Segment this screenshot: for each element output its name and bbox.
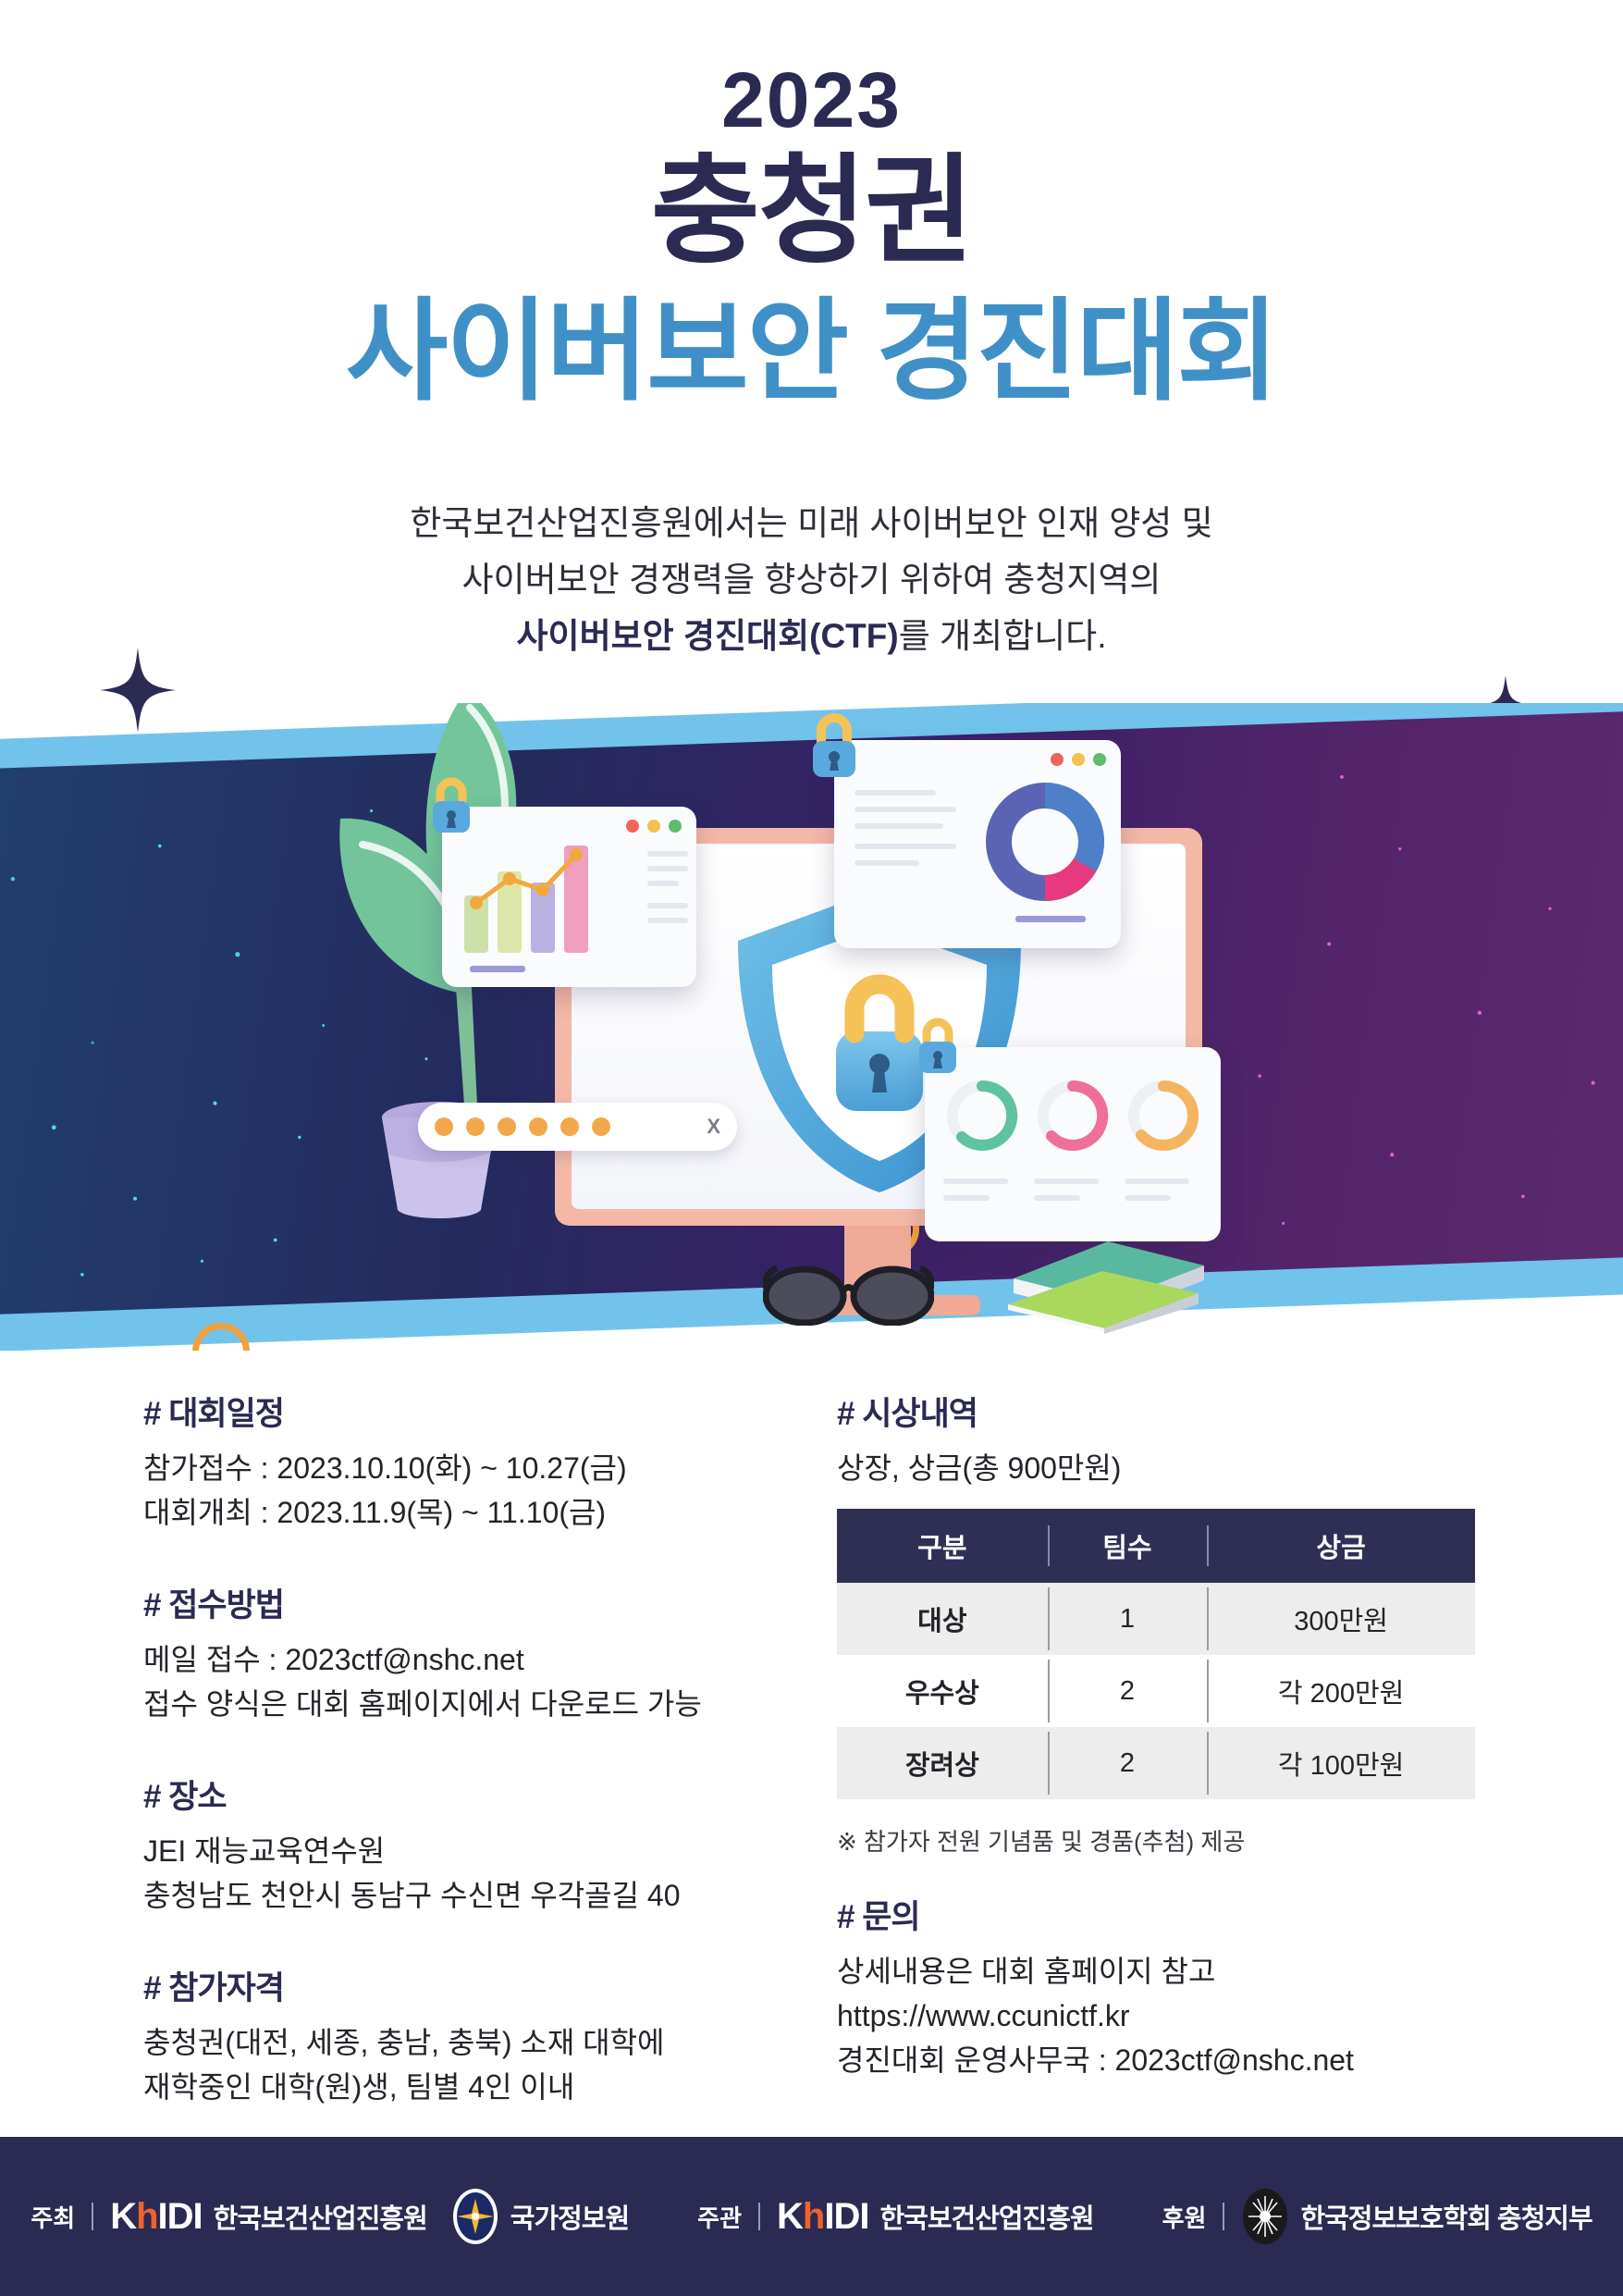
password-dot bbox=[529, 1117, 547, 1136]
row-category: 장려상 bbox=[837, 1727, 1048, 1799]
row-prize: 각 100만원 bbox=[1207, 1727, 1475, 1799]
eyeglasses-icon bbox=[763, 1253, 934, 1326]
eligibility-line-1: 충청권(대전, 세종, 충남, 충북) 소재 대학에 bbox=[143, 2020, 791, 2065]
row-teams: 2 bbox=[1048, 1727, 1208, 1799]
eligibility-line-2: 재학중인 대학(원)생, 팀별 4인 이내 bbox=[143, 2065, 791, 2109]
row-teams: 2 bbox=[1048, 1655, 1208, 1727]
password-dot bbox=[466, 1117, 485, 1136]
padlock-icon bbox=[806, 712, 862, 779]
place-line-2: 충청남도 천안시 동남구 수신면 우각골길 40 bbox=[143, 1873, 791, 1918]
stacked-books-icon bbox=[999, 1232, 1211, 1334]
kiisc-emblem-icon bbox=[1241, 2188, 1289, 2245]
footer-divider bbox=[1223, 2203, 1224, 2230]
table-row: 대상 1 300만원 bbox=[837, 1583, 1475, 1655]
security-illustration: X bbox=[407, 703, 1239, 1351]
row-prize: 각 200만원 bbox=[1207, 1655, 1475, 1727]
password-dot bbox=[592, 1117, 610, 1136]
footer-group-host: 주최 KhIDI 한국보건산업진흥원 국가정보원 bbox=[31, 2188, 629, 2245]
section-place: # 장소 JEI 재능교육연수원 충청남도 천안시 동남구 수신면 우각골길 4… bbox=[143, 1771, 791, 1918]
section-awards: # 시상내역 상장, 상금(총 900만원) 구분 팀수 상금 대상 1 300… bbox=[837, 1388, 1503, 1858]
info-column-left: # 대회일정 참가접수 : 2023.10.10(화) ~ 10.27(금) 대… bbox=[143, 1388, 791, 2117]
padlock-icon bbox=[914, 1018, 962, 1075]
intro-highlight: 사이버보안 경진대회(CTF) bbox=[516, 617, 898, 655]
awards-note: ※ 참가자 전원 기념품 및 경품(추첨) 제공 bbox=[837, 1823, 1503, 1858]
section-heading-eligibility: # 참가자격 bbox=[143, 1962, 791, 2009]
footer-org-name: 한국보건산업진흥원 bbox=[879, 2197, 1093, 2236]
table-row: 장려상 2 각 100만원 bbox=[837, 1727, 1475, 1799]
contact-office-email[interactable]: 경진대회 운영사무국 : 2023ctf@nshc.net bbox=[837, 2038, 1503, 2082]
schedule-line-2: 대회개최 : 2023.11.9(목) ~ 11.10(금) bbox=[143, 1490, 791, 1535]
footer-divider bbox=[758, 2203, 760, 2230]
donut-chart-window bbox=[834, 740, 1121, 948]
section-eligibility: # 참가자격 충청권(대전, 세종, 충남, 충북) 소재 대학에 재학중인 대… bbox=[143, 1962, 791, 2109]
table-header-teams: 팀수 bbox=[1048, 1509, 1208, 1583]
table-header-row: 구분 팀수 상금 bbox=[837, 1509, 1475, 1583]
row-prize: 300만원 bbox=[1207, 1583, 1475, 1655]
footer-bar: 주최 KhIDI 한국보건산업진흥원 국가정보원 주관 KhIDI 한국보건산업… bbox=[0, 2137, 1623, 2296]
section-schedule: # 대회일정 참가접수 : 2023.10.10(화) ~ 10.27(금) 대… bbox=[143, 1388, 791, 1535]
progress-rings-window bbox=[925, 1047, 1221, 1241]
footer-org-name: 국가정보원 bbox=[510, 2197, 629, 2236]
footer-role-host: 주최 bbox=[31, 2200, 75, 2234]
window-traffic-lights bbox=[626, 820, 682, 833]
footer-group-organizer: 주관 KhIDI 한국보건산업진흥원 bbox=[697, 2197, 1093, 2236]
place-line-1: JEI 재능교육연수원 bbox=[143, 1829, 791, 1873]
apply-line-1: 메일 접수 : 2023ctf@nshc.net bbox=[143, 1637, 791, 1682]
table-row: 우수상 2 각 200만원 bbox=[837, 1655, 1475, 1727]
page-title-line2: 사이버보안 경진대회 bbox=[0, 296, 1623, 407]
row-category: 우수상 bbox=[837, 1655, 1048, 1727]
eligibility-region-bold: 충청권(대전, 세종, 충남, 충북) bbox=[143, 2026, 512, 2059]
password-dot bbox=[498, 1117, 516, 1136]
donut-chart-graphic bbox=[986, 783, 1104, 901]
intro-line-3: 사이버보안 경진대회(CTF)를 개최합니다. bbox=[0, 608, 1623, 664]
nis-emblem-icon bbox=[451, 2188, 499, 2245]
title-block: 2023 충청권 사이버보안 경진대회 한국보건산업진흥원에서는 미래 사이버보… bbox=[0, 0, 1623, 703]
info-section: # 대회일정 참가접수 : 2023.10.10(화) ~ 10.27(금) 대… bbox=[0, 1388, 1623, 2137]
bar-chart-window bbox=[442, 807, 696, 987]
hero-illustration-banner: X bbox=[0, 703, 1623, 1351]
section-heading-contact: # 문의 bbox=[837, 1891, 1503, 1938]
schedule-line-1: 참가접수 : 2023.10.10(화) ~ 10.27(금) bbox=[143, 1446, 791, 1490]
apply-line-2: 접수 양식은 대회 홈페이지에서 다운로드 가능 bbox=[143, 1682, 791, 1726]
footer-role-sponsor: 후원 bbox=[1162, 2200, 1207, 2234]
table-header-category: 구분 bbox=[837, 1509, 1048, 1583]
khidi-wordmark-icon: KhIDI bbox=[777, 2198, 868, 2235]
eligibility-line-1-rest: 소재 대학에 bbox=[512, 2026, 665, 2059]
page-year: 2023 bbox=[0, 56, 1623, 145]
contact-line-1: 상세내용은 대회 홈페이지 참고 bbox=[837, 1949, 1503, 1994]
section-heading-place: # 장소 bbox=[143, 1771, 791, 1818]
section-heading-awards: # 시상내역 bbox=[837, 1388, 1503, 1435]
password-dot bbox=[560, 1117, 579, 1136]
password-input-bar[interactable]: X bbox=[418, 1103, 737, 1151]
password-dot bbox=[435, 1117, 453, 1136]
close-icon[interactable]: X bbox=[707, 1115, 720, 1139]
window-traffic-lights bbox=[1051, 753, 1106, 766]
footer-divider bbox=[92, 2203, 93, 2230]
footer-group-sponsor: 후원 한국정보보호학회 충청지부 bbox=[1162, 2188, 1592, 2245]
page-title-line1: 충청권 bbox=[0, 153, 1623, 271]
contact-website-url[interactable]: https://www.ccunictf.kr bbox=[837, 1994, 1503, 2038]
bar-chart-graphic bbox=[455, 834, 640, 953]
section-heading-apply: # 접수방법 bbox=[143, 1579, 791, 1626]
row-teams: 1 bbox=[1048, 1583, 1208, 1655]
info-column-right: # 시상내역 상장, 상금(총 900만원) 구분 팀수 상금 대상 1 300… bbox=[837, 1388, 1503, 2090]
footer-org-name: 한국보건산업진흥원 bbox=[214, 2197, 427, 2236]
khidi-wordmark-icon: KhIDI bbox=[110, 2198, 202, 2235]
intro-line-2: 사이버보안 경쟁력을 향상하기 위하여 충청지역의 bbox=[0, 551, 1623, 608]
section-heading-schedule: # 대회일정 bbox=[143, 1388, 791, 1435]
intro-paragraph: 한국보건산업진흥원에서는 미래 사이버보안 인재 양성 및 사이버보안 경쟁력을… bbox=[0, 495, 1623, 664]
awards-subtitle: 상장, 상금(총 900만원) bbox=[837, 1446, 1503, 1490]
section-apply: # 접수방법 메일 접수 : 2023ctf@nshc.net 접수 양식은 대… bbox=[143, 1579, 791, 1726]
footer-role-organizer: 주관 bbox=[697, 2200, 742, 2234]
prize-table: 구분 팀수 상금 대상 1 300만원 우수상 2 각 200만원 bbox=[837, 1509, 1475, 1799]
intro-line-1: 한국보건산업진흥원에서는 미래 사이버보안 인재 양성 및 bbox=[0, 495, 1623, 551]
section-contact: # 문의 상세내용은 대회 홈페이지 참고 https://www.ccunic… bbox=[837, 1891, 1503, 2082]
row-category: 대상 bbox=[837, 1583, 1048, 1655]
progress-rings-graphic bbox=[941, 1071, 1204, 1160]
table-header-prize: 상금 bbox=[1207, 1509, 1475, 1583]
footer-org-name: 한국정보보호학회 충청지부 bbox=[1300, 2197, 1592, 2236]
intro-line-3-rest: 를 개최합니다. bbox=[899, 617, 1107, 655]
padlock-icon bbox=[427, 777, 475, 834]
